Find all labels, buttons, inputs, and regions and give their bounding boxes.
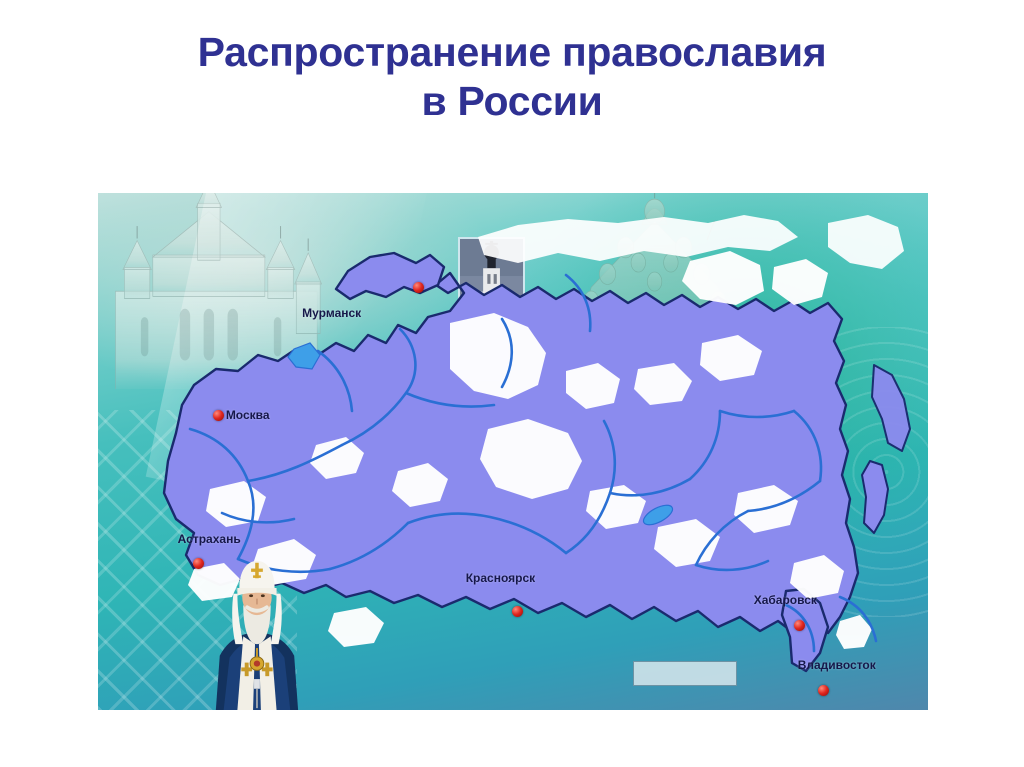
city-marker-astrahan xyxy=(193,558,204,569)
patriarch-photo xyxy=(208,555,306,710)
map-image: Мурманск Москва Астрахань Красноярск Хаб… xyxy=(98,193,928,710)
city-label-vladivostok: Владивосток xyxy=(798,658,876,672)
slide-title: Распространение православия в России xyxy=(0,28,1024,126)
city-label-habarovsk: Хабаровск xyxy=(754,593,817,607)
presentation-slide: Распространение православия в России xyxy=(0,0,1024,767)
legend-box xyxy=(633,661,737,686)
city-marker-habarovsk xyxy=(794,620,805,631)
page-title-line-2: в России xyxy=(0,77,1024,126)
page-title-line-1: Распространение православия xyxy=(0,28,1024,77)
city-label-moskva: Москва xyxy=(226,408,270,422)
city-label-murmansk: Мурманск xyxy=(302,306,361,320)
city-label-krasnoyarsk: Красноярск xyxy=(466,571,535,585)
city-label-astrahan: Астрахань xyxy=(178,532,241,546)
city-marker-krasnoyarsk xyxy=(512,606,523,617)
city-marker-moskva xyxy=(213,410,224,421)
